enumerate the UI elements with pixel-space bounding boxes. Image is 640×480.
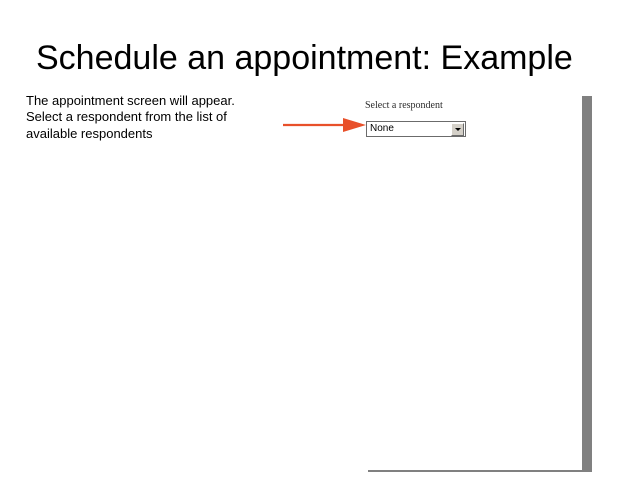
body-text: The appointment screen will appear. Sele… (26, 93, 258, 142)
respondent-select-value: None (367, 122, 394, 136)
chevron-down-icon[interactable] (451, 123, 464, 136)
respondent-select[interactable]: None (366, 121, 466, 137)
panel-shadow-right (581, 96, 592, 472)
arrow-right-icon (281, 114, 369, 136)
page-title: Schedule an appointment: Example (36, 38, 616, 78)
respondent-label: Select a respondent (365, 100, 443, 112)
screenshot-panel (360, 92, 582, 470)
slide-canvas: Schedule an appointment: Example The app… (0, 0, 640, 480)
